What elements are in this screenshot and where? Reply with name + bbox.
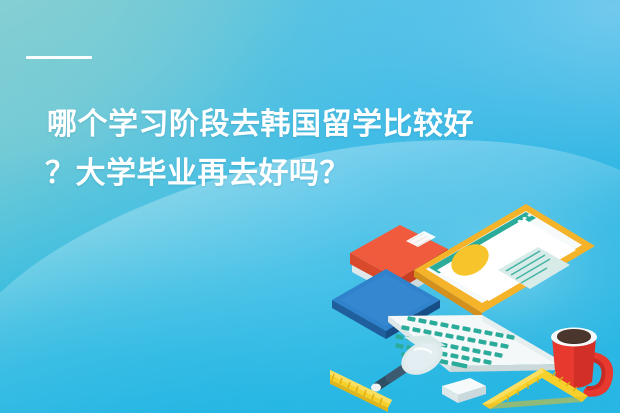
banner-canvas: 哪个学习阶段去韩国留学比较好 ？大学毕业再去好吗？ (0, 0, 620, 413)
eraser-illustration (442, 378, 486, 403)
page-title-line-2: ？大学毕业再去好吗？ (45, 149, 583, 198)
page-title: 哪个学习阶段去韩国留学比较好 ？大学毕业再去好吗？ (47, 100, 583, 198)
top-rule-divider (26, 56, 92, 59)
study-desk-illustration (330, 196, 620, 413)
page-title-line-1: 哪个学习阶段去韩国留学比较好 (47, 100, 583, 149)
